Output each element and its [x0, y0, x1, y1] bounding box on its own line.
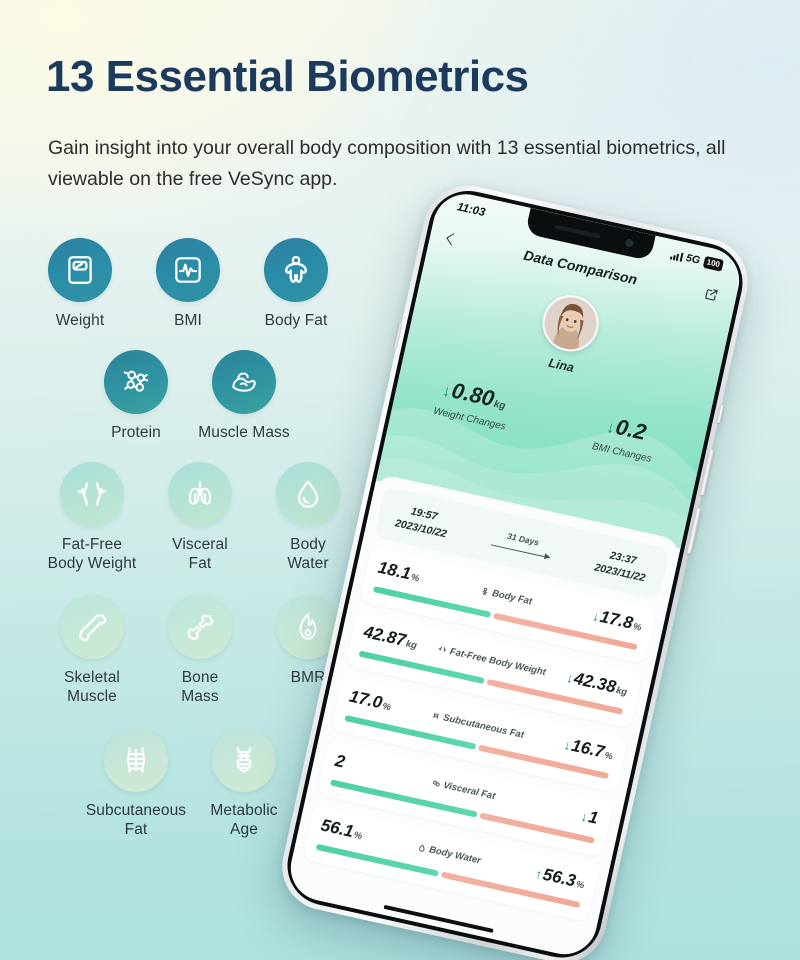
bmi-change-value: 0.2 — [613, 414, 648, 446]
body-water-icon — [417, 842, 428, 853]
metric-label: Visceral Fat — [431, 777, 497, 802]
lungs-icon — [168, 462, 232, 526]
biometric-label: Weight — [56, 311, 105, 330]
biometric-label: Subcutaneous Fat — [86, 801, 186, 839]
biometric-label: BMI — [174, 311, 202, 330]
body-figure-icon — [264, 238, 328, 302]
fat-free-weight-icon — [437, 644, 448, 655]
metric-start-unit: % — [381, 701, 392, 714]
metric-start-value: 42.87 — [362, 622, 408, 651]
biometric-label: Fat-Free Body Weight — [48, 535, 137, 573]
metric-start-value: 17.0 — [347, 687, 384, 714]
biometric-label: Metabolic Age — [210, 801, 277, 839]
metric-end-unit: % — [575, 879, 586, 892]
metric-start-unit: % — [410, 572, 421, 585]
visceral-fat-icon — [431, 778, 442, 789]
biometric-item-body-water[interactable]: Body Water — [254, 462, 362, 573]
biometric-label: Muscle Mass — [198, 423, 290, 442]
biometric-item-visceral-fat[interactable]: Visceral Fat — [146, 462, 254, 573]
weight-change-unit: kg — [493, 399, 507, 412]
metric-label: Subcutaneous Fat — [431, 709, 525, 740]
biometric-label: Body Water — [287, 535, 328, 573]
metric-label: Body Water — [416, 841, 481, 866]
date-range-start: 19:57 2023/10/22 — [394, 502, 451, 540]
biometric-item-protein[interactable]: Protein — [82, 350, 190, 442]
metric-end-value: 17.8 — [598, 607, 635, 634]
network-type-label: 5G — [685, 252, 701, 267]
skin-layers-icon — [104, 728, 168, 792]
status-time: 11:03 — [456, 201, 486, 219]
biometric-label: Body Fat — [265, 311, 328, 330]
subcutaneous-fat-icon — [431, 710, 442, 721]
scale-icon — [48, 238, 112, 302]
user-avatar — [540, 292, 602, 354]
earpiece-speaker-icon — [555, 225, 601, 239]
biometric-label: Visceral Fat — [172, 535, 228, 573]
date-range-span: 31 Days — [491, 528, 554, 559]
water-drop-icon — [276, 462, 340, 526]
date-range-end: 23:37 2023/11/22 — [593, 546, 649, 584]
biometric-item-fat-free-body-weight[interactable]: Fat-Free Body Weight — [38, 462, 146, 573]
battery-icon: 100 — [702, 256, 723, 272]
flexed-bicep-icon — [212, 350, 276, 414]
signal-bars-icon — [670, 250, 683, 261]
biometrics-row: Fat-Free Body Weight Visceral Fat — [0, 462, 400, 573]
biometric-item-subcutaneous-fat[interactable]: Subcutaneous Fat — [82, 728, 190, 839]
body-fat-icon — [480, 586, 491, 597]
metric-end-value: 42.38 — [572, 669, 618, 698]
metric-start-value: 56.1 — [319, 815, 356, 842]
biometric-item-muscle-mass[interactable]: Muscle Mass — [190, 350, 298, 442]
metric-start-unit: % — [353, 830, 364, 843]
biometric-item-bmi[interactable]: BMI — [134, 238, 242, 330]
biometric-label: Bone Mass — [181, 668, 218, 706]
bone-icon — [60, 595, 124, 659]
bone-joint-icon — [168, 595, 232, 659]
biometric-item-body-fat[interactable]: Body Fat — [242, 238, 350, 330]
dna-helix-icon — [212, 728, 276, 792]
heart-rate-chart-icon — [156, 238, 220, 302]
molecule-icon — [104, 350, 168, 414]
page-subtitle: Gain insight into your overall body comp… — [48, 133, 738, 195]
metric-end-value: 16.7 — [570, 736, 607, 763]
metric-start-value: 18.1 — [376, 558, 413, 585]
biometrics-row: Protein Muscle Mass — [0, 350, 400, 442]
metric-end-value: 56.3 — [541, 865, 578, 892]
biometric-item-skeletal-muscle[interactable]: Skeletal Muscle — [38, 595, 146, 706]
share-export-icon[interactable] — [702, 285, 720, 307]
metric-end-unit: % — [603, 750, 614, 763]
front-camera-icon — [625, 238, 635, 248]
metric-start-unit: kg — [405, 638, 418, 651]
metric-start-value: 2 — [333, 751, 347, 773]
biometrics-row: Weight BMI Body Fat — [0, 238, 400, 330]
biometric-label: BMR — [291, 668, 326, 687]
biometric-label: Skeletal Muscle — [64, 668, 120, 706]
chevron-left-icon[interactable] — [446, 233, 458, 245]
page-title: 13 Essential Biometrics — [46, 52, 529, 102]
metric-end-unit: kg — [615, 685, 628, 698]
metric-end-unit: % — [632, 621, 643, 634]
waist-measure-icon — [60, 462, 124, 526]
avatar[interactable] — [537, 290, 604, 357]
biometric-item-bone-mass[interactable]: Bone Mass — [146, 595, 254, 706]
biometric-item-metabolic-age[interactable]: Metabolic Age — [190, 728, 298, 839]
biometric-label: Protein — [111, 423, 161, 442]
metric-label: Body Fat — [479, 585, 533, 607]
biometric-item-weight[interactable]: Weight — [26, 238, 134, 330]
